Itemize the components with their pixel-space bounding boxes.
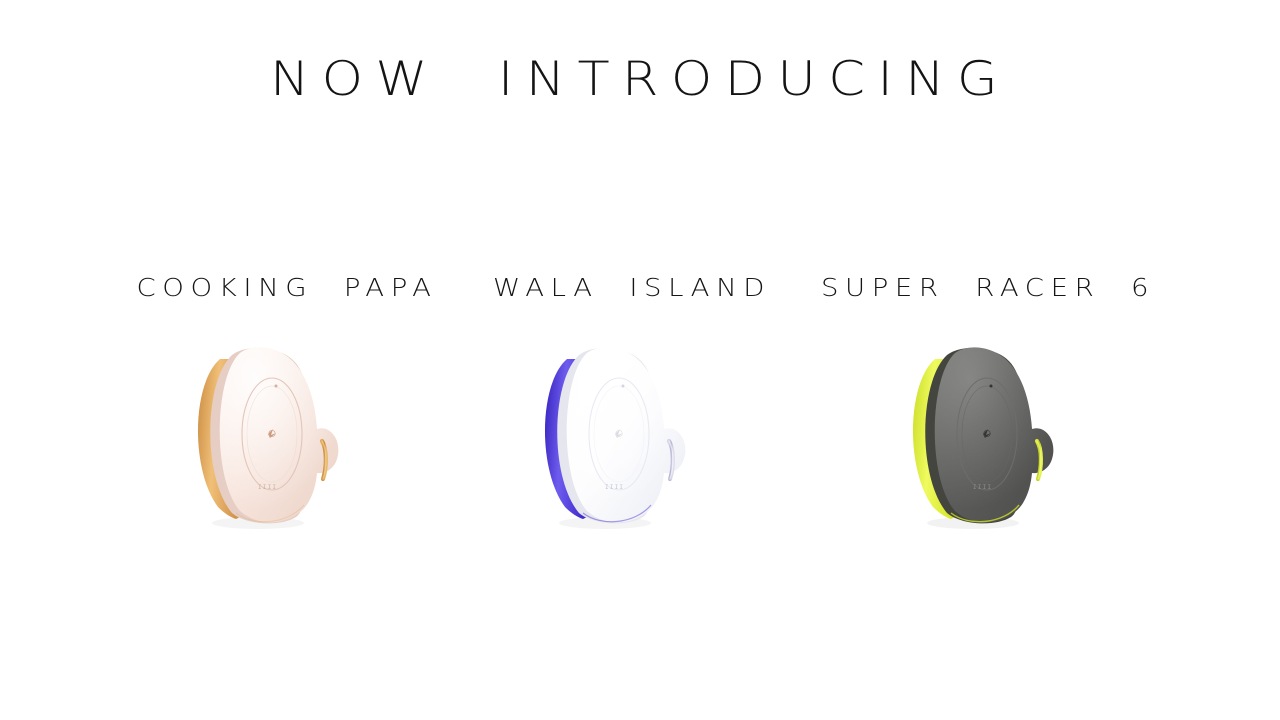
product-image: IIII [462,337,802,552]
product-image: IIII [818,337,1158,552]
product-image: IIII [117,337,457,552]
product-name-label: WALA ISLAND [445,275,819,300]
product-name-label: SUPER RACER 6 [801,275,1175,300]
page-title: NOW INTRODUCING [0,56,1280,103]
product-card[interactable]: WALA ISLAND [462,275,802,555]
product-card[interactable]: SUPER RACER 6 [818,275,1158,555]
product-lineup: COOKING PAPA [0,275,1280,555]
device-render-cooking-papa: IIII [184,337,364,537]
device-render-wala-island: IIII [531,337,711,537]
presentation-stage: NOW INTRODUCING COOKING PAPA [0,0,1280,720]
device-render-super-racer-6: IIII [899,337,1079,537]
device-micro-text: IIII [605,484,624,491]
device-micro-text: IIII [258,484,277,491]
product-name-label: COOKING PAPA [100,275,474,300]
device-micro-text: IIII [973,484,992,491]
product-card[interactable]: COOKING PAPA [117,275,457,555]
